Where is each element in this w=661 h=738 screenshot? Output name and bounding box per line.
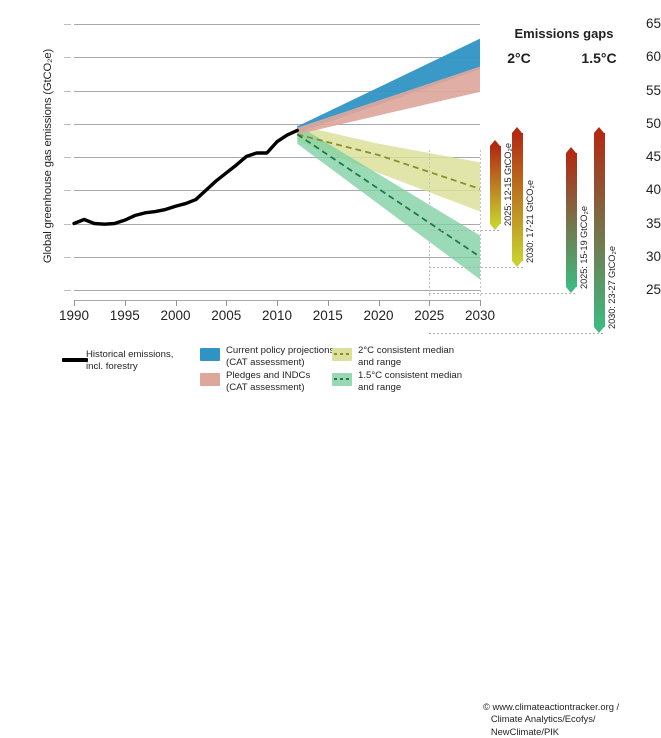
- chart-legend: Historical emissions,incl. forestryCurre…: [0, 345, 661, 419]
- legend-swatch: [200, 348, 220, 361]
- gap-bar-shaft: [512, 133, 523, 261]
- legend-label-line1: Pledges and INDCs: [226, 370, 310, 382]
- gap-bar-shaft: [594, 133, 605, 327]
- gap-group-label-2c: 2°C: [484, 50, 554, 66]
- legend-swatch: [332, 373, 352, 386]
- legend-label-line1: Current policy projections: [226, 345, 334, 357]
- legend-label-line2: (CAT assessment): [226, 382, 310, 394]
- gap-bar-caption: 2030: 23-27 GtCO₂e: [607, 246, 617, 329]
- legend-label: Historical emissions,incl. forestry: [86, 349, 173, 372]
- legend-label-line2: and range: [358, 357, 454, 369]
- legend-label-line2: (CAT assessment): [226, 357, 334, 369]
- emissions-gaps-title: Emissions gaps: [484, 26, 644, 41]
- legend-label: 2°C consistent medianand range: [358, 345, 454, 368]
- gap-bar: [566, 147, 577, 293]
- gap-bar-arrow-down-icon: [594, 327, 604, 333]
- gap-connector-line: [429, 333, 605, 334]
- gap-bar-shaft: [566, 153, 577, 287]
- gap-bar-arrow-down-icon: [512, 261, 522, 267]
- emissions-gaps-panel: Emissions gaps 2°C2025: 12-15 GtCO₂e2030…: [484, 0, 661, 330]
- legend-label-line2: incl. forestry: [86, 361, 173, 373]
- legend-label-line1: 1.5°C consistent median: [358, 370, 462, 382]
- gap-bar-caption: 2030: 17-21 GtCO₂e: [525, 180, 535, 263]
- legend-label: Current policy projections(CAT assessmen…: [226, 345, 334, 368]
- historical-emissions-line: [74, 130, 297, 224]
- gap-bar: [490, 140, 501, 230]
- legend-label: Pledges and INDCs(CAT assessment): [226, 370, 310, 393]
- legend-swatch-line: [62, 358, 88, 362]
- gap-vertical-guide: [429, 150, 430, 296]
- legend-label-line1: Historical emissions,: [86, 349, 173, 361]
- legend-label-line1: 2°C consistent median: [358, 345, 454, 357]
- gap-bar-arrow-down-icon: [566, 287, 576, 293]
- legend-swatch: [332, 348, 352, 361]
- credit-text: © www.climateactiontracker.org / Climate…: [483, 701, 619, 738]
- band-pledges: [297, 67, 480, 135]
- gap-bar-caption: 2025: 15-19 GtCO₂e: [579, 206, 589, 289]
- legend-label-line2: and range: [358, 382, 462, 394]
- legend-median-dash: [334, 378, 350, 380]
- gap-bar-arrow-down-icon: [490, 224, 500, 230]
- gap-group-label-1p5c: 1.5°C: [564, 50, 634, 66]
- legend-swatch: [200, 373, 220, 386]
- gap-bar: [594, 127, 605, 333]
- legend-label: 1.5°C consistent medianand range: [358, 370, 462, 393]
- legend-median-dash: [334, 353, 350, 355]
- gap-vertical-guide: [480, 150, 481, 296]
- gap-bar-shaft: [490, 146, 501, 224]
- gap-bar: [512, 127, 523, 267]
